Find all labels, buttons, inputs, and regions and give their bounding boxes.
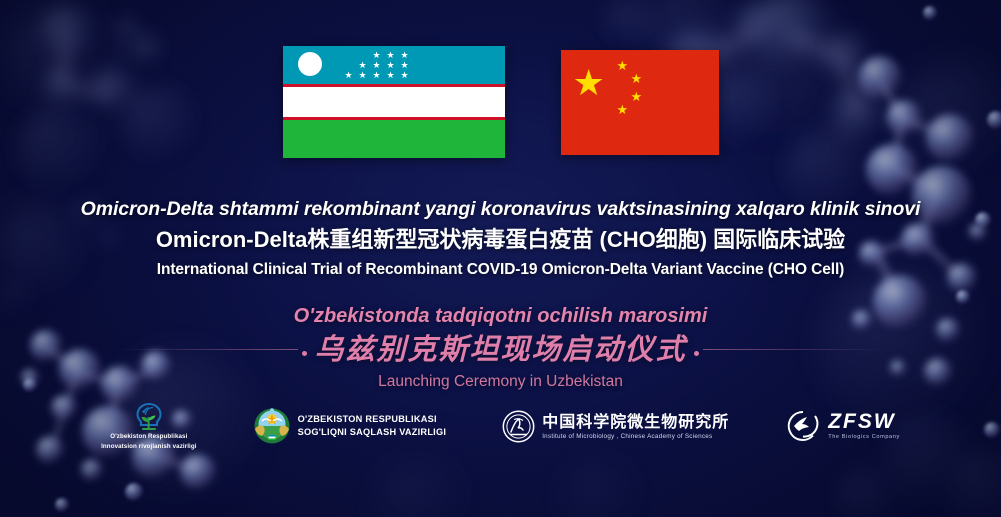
decorative-dot-left bbox=[302, 351, 307, 356]
title-english: International Clinical Trial of Recombin… bbox=[0, 259, 1001, 281]
health-ministry-line2: SOG'LIQNI SAQLASH VAZIRLIGI bbox=[298, 426, 447, 439]
decorative-rule-right bbox=[703, 349, 883, 350]
innovation-ministry-line2: Innovatsion rivojlanish vazirligi bbox=[101, 443, 196, 451]
ceremony-chinese: 乌兹别克斯坦现场启动仪式 bbox=[308, 331, 692, 367]
decorative-dot-right bbox=[694, 351, 699, 356]
title-chinese: Omicron-Delta株重组新型冠状病毒蛋白疫苗 (CHO细胞) 国际临床试… bbox=[0, 225, 1001, 255]
microbiology-institute-chinese: 中国科学院微生物研究所 bbox=[542, 412, 729, 431]
china-flag-small-star-2: ★ bbox=[631, 72, 643, 85]
ceremony-chinese-row: 乌兹别克斯坦现场启动仪式 bbox=[0, 331, 1001, 367]
microbiology-institute-english: Institute of Microbiology , Chinese Acad… bbox=[542, 432, 729, 441]
ceremony-english: Launching Ceremony in Uzbekistan bbox=[0, 371, 1001, 393]
decorative-rule-left bbox=[118, 349, 298, 350]
title-block: Omicron-Delta shtammi rekombinant yangi … bbox=[0, 196, 1001, 281]
cas-microbiology-seal-icon bbox=[502, 410, 535, 443]
china-flag: ★ ★ ★ ★ ★ bbox=[561, 50, 719, 155]
lightbulb-plant-icon bbox=[128, 401, 170, 431]
health-ministry-line1: O'ZBEKISTON RESPUBLIKASI bbox=[298, 413, 447, 426]
uzbekistan-flag: ★ ★ ★ ★ ★ ★ ★ ★ ★ ★ ★ ★ bbox=[283, 46, 505, 158]
title-uzbek: Omicron-Delta shtammi rekombinant yangi … bbox=[0, 196, 1001, 222]
ceremony-uzbek: O'zbekistonda tadqiqotni ochilish marosi… bbox=[0, 303, 1001, 329]
zfsw-eagle-icon bbox=[785, 410, 821, 442]
presentation-slide: ★ ★ ★ ★ ★ ★ ★ ★ ★ ★ ★ ★ ★ ★ ★ ★ ★ Omicro… bbox=[0, 0, 1001, 517]
china-flag-small-star-3: ★ bbox=[631, 90, 643, 103]
ceremony-block: O'zbekistonda tadqiqotni ochilish marosi… bbox=[0, 303, 1001, 393]
uz-flag-white-band bbox=[283, 87, 505, 117]
logo-zfsw: ZFSW The Biologics Company bbox=[785, 410, 900, 442]
china-flag-small-star-4: ★ bbox=[617, 103, 629, 116]
uz-flag-green-band bbox=[283, 120, 505, 158]
logo-innovation-ministry: O'zbekiston Respublikasi Innovatsion riv… bbox=[101, 401, 196, 451]
innovation-ministry-line1: O'zbekiston Respublikasi bbox=[110, 433, 187, 441]
china-flag-large-star: ★ bbox=[573, 65, 605, 101]
flag-row: ★ ★ ★ ★ ★ ★ ★ ★ ★ ★ ★ ★ ★ ★ ★ ★ ★ bbox=[0, 44, 1001, 160]
uz-flag-stars: ★ ★ ★ ★ ★ ★ ★ ★ ★ ★ ★ ★ bbox=[339, 51, 431, 81]
zfsw-wordmark: ZFSW bbox=[828, 411, 900, 433]
china-flag-small-star-1: ★ bbox=[617, 59, 629, 72]
logo-bar: O'zbekiston Respublikasi Innovatsion riv… bbox=[0, 396, 1001, 456]
crescent-moon-icon bbox=[298, 52, 322, 76]
logo-microbiology-institute: 中国科学院微生物研究所 Institute of Microbiology , … bbox=[502, 410, 729, 443]
logo-health-ministry: O'ZBEKISTON RESPUBLIKASI SOG'LIQNI SAQLA… bbox=[253, 407, 447, 445]
uzbekistan-coat-of-arms-icon bbox=[253, 407, 291, 445]
zfsw-tagline: The Biologics Company bbox=[828, 433, 900, 441]
